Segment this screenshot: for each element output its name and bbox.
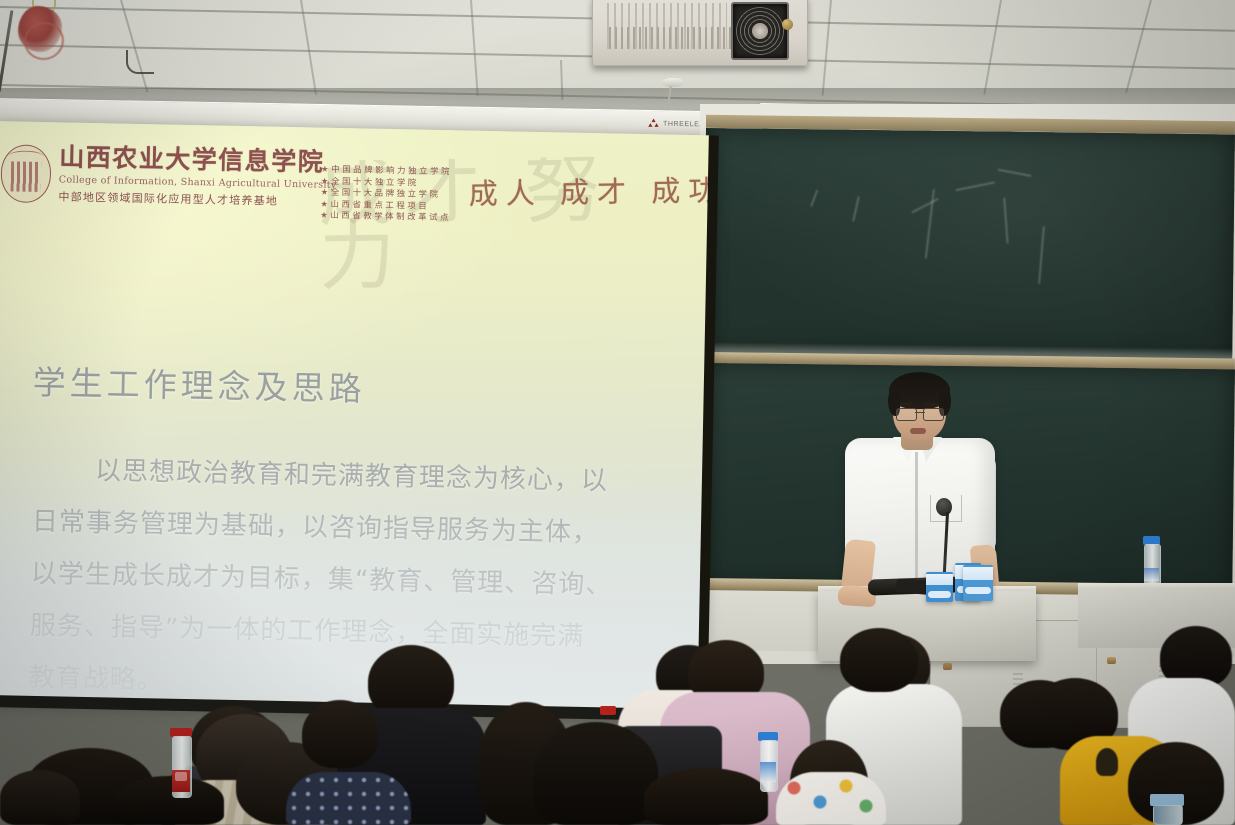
eyeglasses-icon xyxy=(896,408,944,419)
audience-navy-dot-torso xyxy=(286,772,411,825)
eyebrow-right xyxy=(925,403,939,406)
audience-long-hair xyxy=(0,770,80,825)
audience-long-hair xyxy=(112,776,224,825)
water-bottle-desk-left[interactable] xyxy=(170,728,192,798)
water-bottle-foreground[interactable] xyxy=(1150,794,1184,825)
badge-item: 山西省教学体制改革试点 xyxy=(320,210,490,225)
polo-logo-icon xyxy=(1096,748,1118,776)
lock-knob-icon[interactable] xyxy=(782,19,793,30)
smoke-detector-icon xyxy=(662,78,684,87)
water-bottle-desk-center[interactable] xyxy=(600,706,616,718)
lecture-hall-photo: THREELEAVES 成才 努力 xyxy=(0,0,1235,825)
projector-wire xyxy=(126,50,154,74)
institution-badge-list: 中国品牌影响力独立学院 全国十大独立学院 全国十大品牌独立学院 山西省重点工程项… xyxy=(280,163,491,225)
water-bottle-desk-right[interactable] xyxy=(758,732,778,792)
institution-subtitle: 中部地区领域国际化应用型人才培养基地 xyxy=(58,188,278,208)
slide-header: 山西农业大学信息学院 College of Information, Shanx… xyxy=(0,135,710,235)
microphone-capsule-icon[interactable] xyxy=(936,498,952,516)
tissue-box[interactable] xyxy=(963,565,993,601)
motto-calligraphy: 成人 成才 成功 xyxy=(468,167,709,213)
eyebrow-left xyxy=(900,403,914,406)
university-seal-icon xyxy=(0,144,51,203)
slide-title: 学生工作理念及思路 xyxy=(32,356,366,411)
projector-enclosure xyxy=(592,0,808,66)
audience-head xyxy=(302,700,378,768)
tissue-box[interactable] xyxy=(926,572,953,602)
cooling-fan-icon xyxy=(731,2,789,60)
presenter-mouth xyxy=(910,428,926,434)
vent-grille-lower xyxy=(609,27,733,49)
projection-screen[interactable]: 成才 努力 山西农业大学信息学院 College of Information,… xyxy=(0,121,710,711)
audience-long-hair xyxy=(534,722,658,825)
three-diamond-logo xyxy=(648,118,659,128)
audience-long-hair xyxy=(644,768,768,825)
audience-head xyxy=(840,628,918,692)
chalkboard-upper-panel xyxy=(703,128,1235,361)
audience-head-yellow-polo xyxy=(1000,680,1080,748)
audience-floral-top xyxy=(776,772,886,825)
